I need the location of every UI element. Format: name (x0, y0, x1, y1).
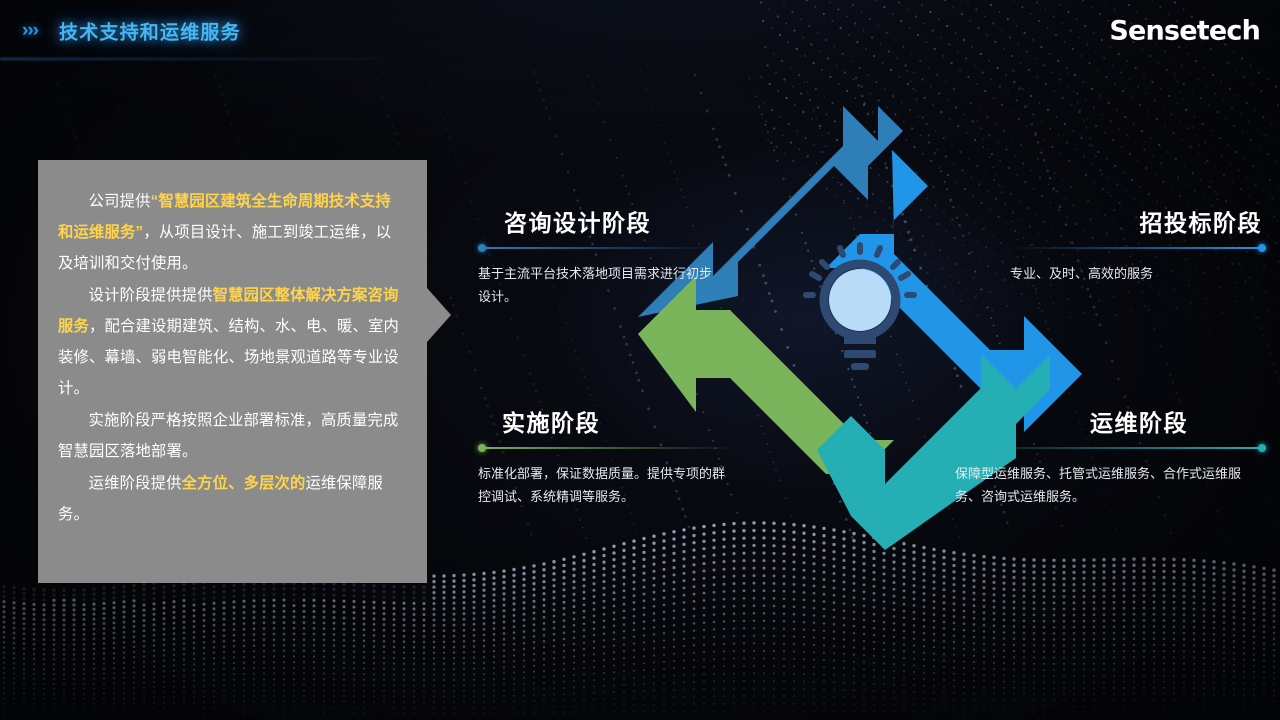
description-panel-text: 公司提供“智慧园区建筑全生命周期技术支持和运维服务”，从项目设计、施工到竣工运维… (38, 160, 427, 530)
stage-description: 专业、及时、高效的服务 (1010, 262, 1266, 285)
description-paragraph: 设计阶段提供提供智慧园区整体解决方案咨询服务，配合建设期建筑、结构、水、电、暖、… (58, 280, 405, 404)
stage-description: 基于主流平台技术落地项目需求进行初步设计。 (478, 262, 714, 308)
stage-rule-dot (478, 244, 486, 252)
description-paragraph: 公司提供“智慧园区建筑全生命周期技术支持和运维服务”，从项目设计、施工到竣工运维… (58, 186, 405, 279)
panel-pointer-icon (427, 288, 451, 342)
body-text: 公司提供 (89, 193, 151, 210)
body-text: ，配合建设期建筑、结构、水、电、暖、室内装修、幕墙、弱电智能化、场地景观道路等专… (58, 318, 399, 397)
stage-rule-dot (1258, 244, 1266, 252)
stage-rule-bar (955, 447, 1266, 449)
page-title: 技术支持和运维服务 (59, 18, 241, 45)
stage-rule-bar (478, 447, 734, 449)
description-paragraph: 运维阶段提供全方位、多层次的运维保障服务。 (58, 468, 405, 530)
header-divider (0, 58, 430, 60)
stage-title: 运维阶段 (955, 404, 1266, 438)
stage-rule (955, 447, 1266, 449)
body-text: 运维阶段提供 (89, 475, 182, 492)
chevrons-icon: ››› (22, 20, 38, 42)
stage-description: 保障型运维服务、托管式运维服务、合作式运维服务、咨询式运维服务。 (955, 462, 1266, 508)
slide-header: ››› 技术支持和运维服务 Sensetech (0, 0, 1280, 62)
stage-description: 标准化部署，保证数据质量。提供专项的群控调试、系统精调等服务。 (478, 462, 734, 508)
stage-label-implementation[interactable]: 实施阶段 标准化部署，保证数据质量。提供专项的群控调试、系统精调等服务。 (478, 404, 734, 508)
stage-rule-dot (1258, 444, 1266, 452)
stage-title: 咨询设计阶段 (478, 204, 714, 238)
stage-label-consulting-design[interactable]: 咨询设计阶段 基于主流平台技术落地项目需求进行初步设计。 (478, 204, 714, 308)
stage-title: 招投标阶段 (1010, 204, 1266, 238)
stage-label-operations[interactable]: 运维阶段 保障型运维服务、托管式运维服务、合作式运维服务、咨询式运维服务。 (955, 404, 1266, 508)
brand-logo: Sensetech (1109, 16, 1260, 47)
stage-rule (478, 247, 714, 249)
stage-rule (1010, 247, 1266, 249)
stage-rule-bar (1010, 247, 1266, 249)
stage-rule-bar (478, 247, 714, 249)
stage-label-bidding[interactable]: 招投标阶段 专业、及时、高效的服务 (1010, 204, 1266, 285)
slide-canvas: ››› 技术支持和运维服务 Sensetech (0, 0, 1280, 720)
body-text: 实施阶段严格按照企业部署标准，高质量完成智慧园区落地部署。 (58, 412, 399, 460)
lightbulb-icon (806, 245, 914, 370)
body-text: 设计阶段提供提供 (89, 287, 213, 304)
highlighted-text: 全方位、多层次的 (182, 475, 306, 492)
stage-title: 实施阶段 (478, 404, 734, 438)
description-paragraph: 实施阶段严格按照企业部署标准，高质量完成智慧园区落地部署。 (58, 405, 405, 467)
description-panel: 公司提供“智慧园区建筑全生命周期技术支持和运维服务”，从项目设计、施工到竣工运维… (38, 160, 427, 583)
stage-rule (478, 447, 734, 449)
stage-rule-dot (478, 444, 486, 452)
